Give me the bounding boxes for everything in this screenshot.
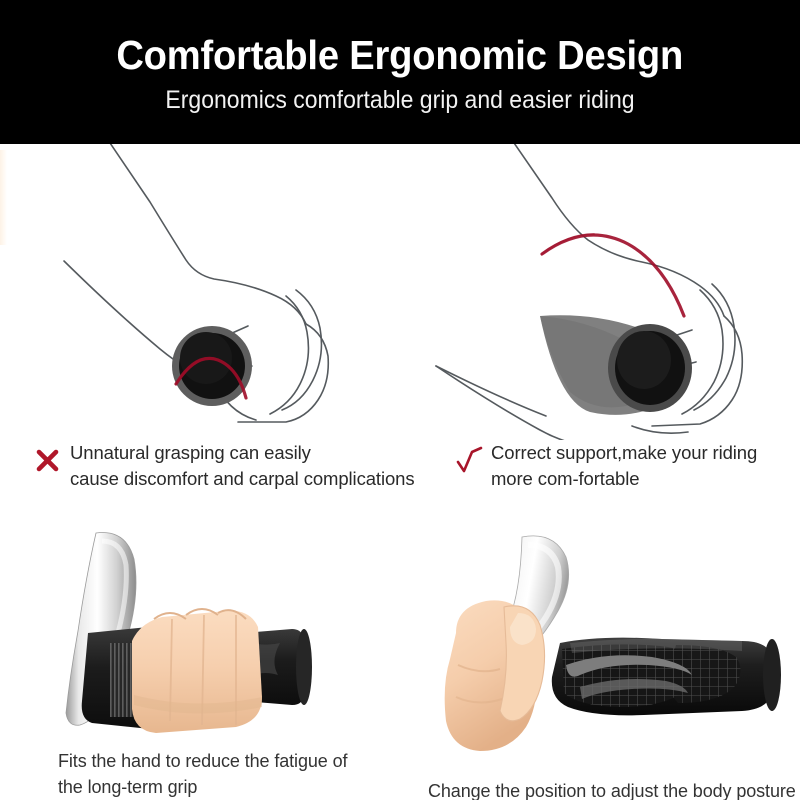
ergonomic-grip-infographic: Comfortable Ergonomic Design Ergonomics …: [0, 0, 800, 800]
left-edge-sliver: [0, 150, 7, 245]
correct-caption-text: Correct support,make your riding more co…: [491, 440, 757, 493]
incorrect-caption-line-2: cause discomfort and carpal complication…: [70, 466, 414, 492]
incorrect-caption-line-1: Unnatural grasping can easily: [70, 440, 414, 466]
left-photo-caption: Fits the hand to reduce the fatigue of t…: [58, 748, 398, 800]
correct-caption-line-1: Correct support,make your riding: [491, 440, 757, 466]
comparison-illustration-row: [0, 144, 800, 440]
header-banner: Comfortable Ergonomic Design Ergonomics …: [0, 0, 800, 144]
correct-caption-block: Correct support,make your riding more co…: [455, 440, 800, 493]
hand-shape: [445, 600, 545, 751]
incorrect-caption-block: Unnatural grasping can easily cause disc…: [34, 440, 454, 493]
page-subtitle: Ergonomics comfortable grip and easier r…: [165, 87, 634, 115]
page-title: Comfortable Ergonomic Design: [117, 34, 684, 77]
left-photo-caption-line-1: Fits the hand to reduce the fatigue of: [58, 748, 398, 774]
round-bar-end-shape: [172, 326, 252, 406]
product-photo-row: [0, 515, 800, 760]
fist-shape: [132, 609, 262, 733]
hand-holding-grip-front-photo: [30, 515, 400, 760]
correct-grip-illustration: [400, 144, 800, 440]
right-photo-caption: Change the position to adjust the body p…: [428, 778, 800, 800]
incorrect-caption-text: Unnatural grasping can easily cause disc…: [70, 440, 414, 493]
right-photo-caption-line-1: Change the position to adjust the body p…: [428, 778, 800, 800]
incorrect-grip-illustration: [0, 144, 400, 440]
check-mark-icon: [455, 445, 483, 475]
wrist-relaxed-arc: [542, 234, 684, 316]
left-photo-caption-line-2: the long-term grip: [58, 774, 398, 800]
comparison-caption-row: Unnatural grasping can easily cause disc…: [0, 440, 800, 515]
correct-caption-line-2: more com-fortable: [491, 466, 757, 492]
grip-end-cap-shape: [608, 324, 692, 412]
cross-mark-icon: [34, 445, 62, 475]
ergonomic-grip-body-shape: [552, 638, 781, 716]
hand-holding-grip-side-photo: [430, 515, 800, 760]
